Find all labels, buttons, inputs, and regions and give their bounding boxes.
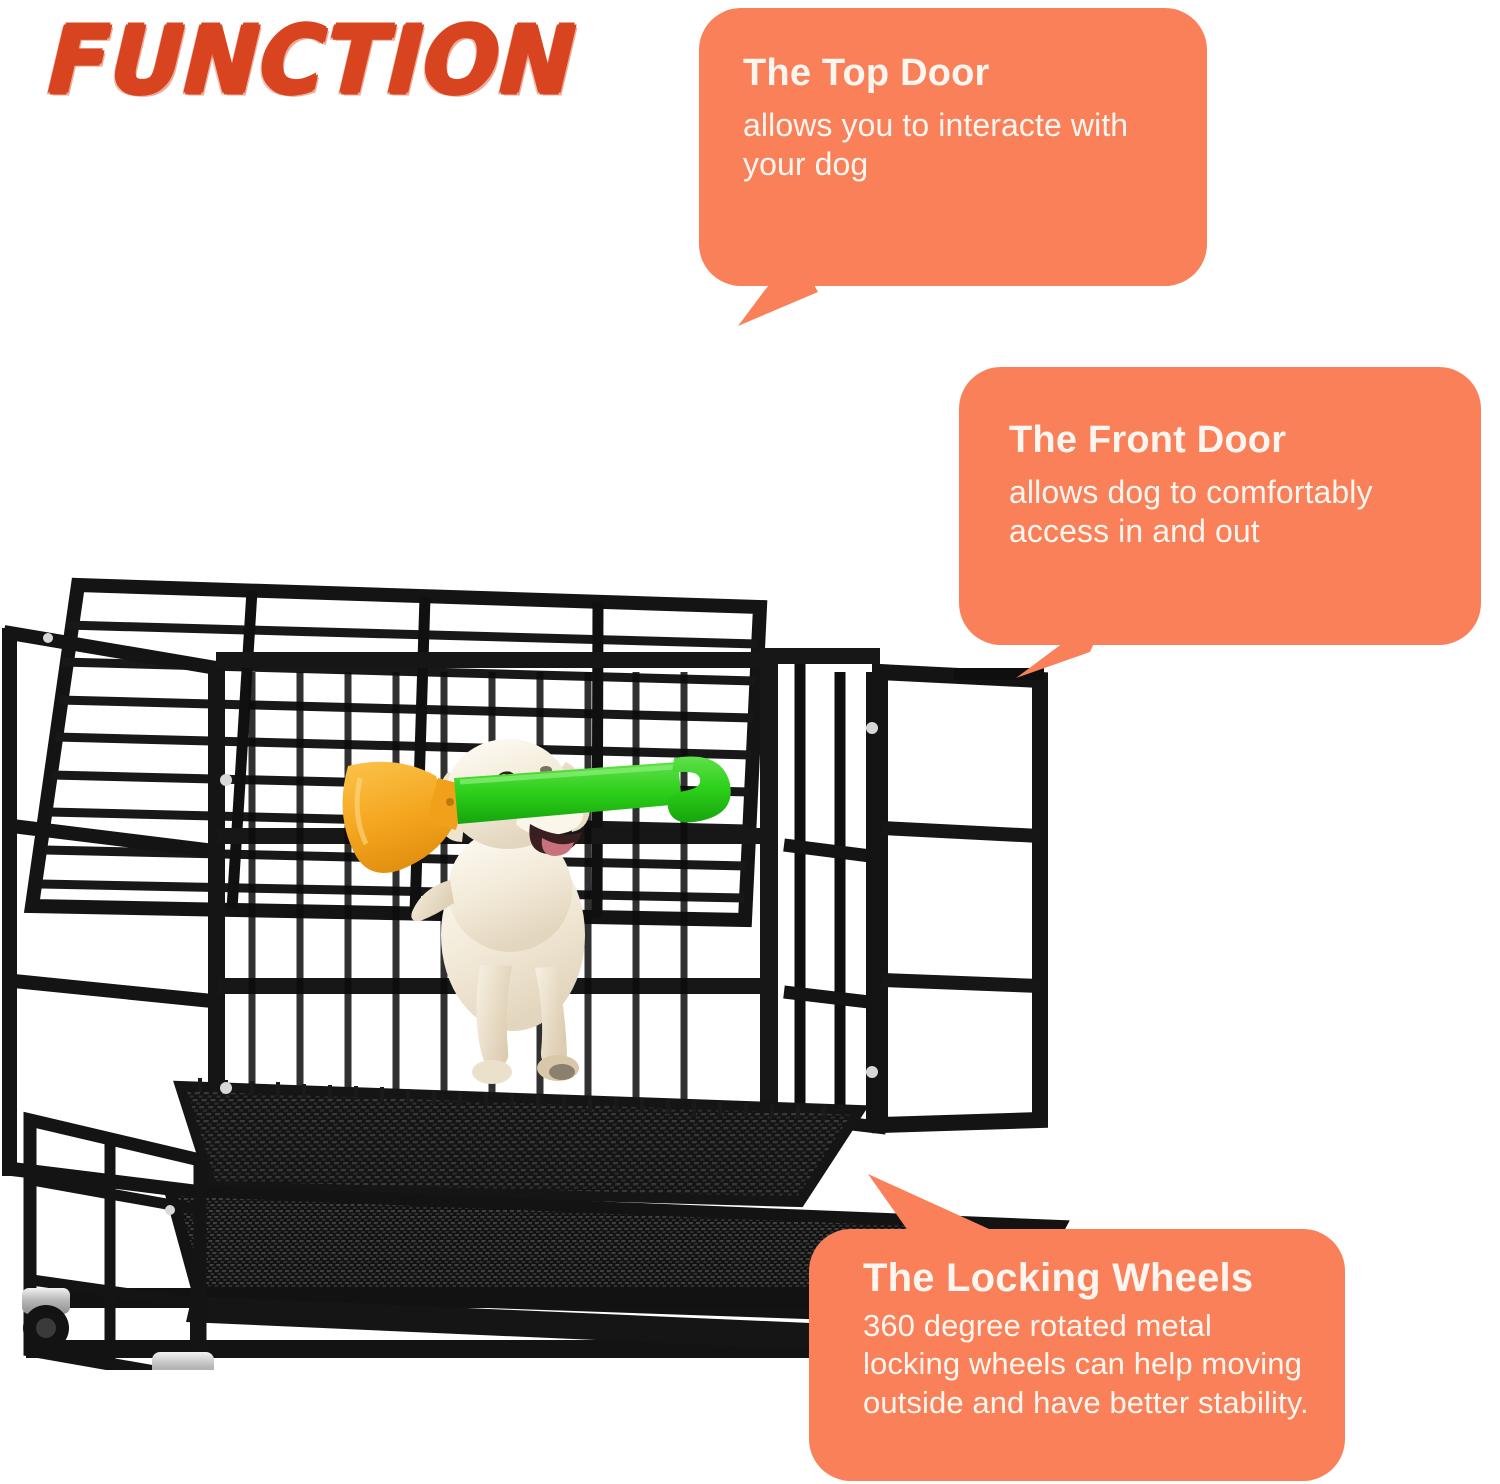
callout-front-door: The Front Door allows dog to comfortably… [959,367,1481,645]
infographic-page: FUNCTION [0,0,1500,1484]
floor-grate [180,1078,860,1202]
locking-wheel-front-left [152,1352,214,1370]
callout-locking-wheels: The Locking Wheels 360 degree rotated me… [809,1229,1345,1481]
callout-title: The Front Door [1009,419,1443,463]
door-latch-screw [866,722,878,734]
front-door-panel [866,668,1044,1125]
door-latch-screw [866,1066,878,1078]
callout-body: 360 degree rotated metal locking wheels … [863,1307,1315,1422]
callout-top-door-tail [690,250,830,340]
callout-front-door-tail [990,608,1120,698]
callout-top-door: The Top Door allows you to interacte wit… [699,8,1207,286]
locking-wheel-back-left [22,1288,70,1351]
callout-title: The Top Door [743,52,1169,96]
callout-body: allows dog to comfortably access in and … [1009,473,1443,551]
callout-locking-wheels-tail [860,1168,1030,1258]
callout-body: allows you to interacte with your dog [743,106,1169,184]
callout-title: The Locking Wheels [863,1255,1315,1301]
page-title: FUNCTION [47,14,579,107]
